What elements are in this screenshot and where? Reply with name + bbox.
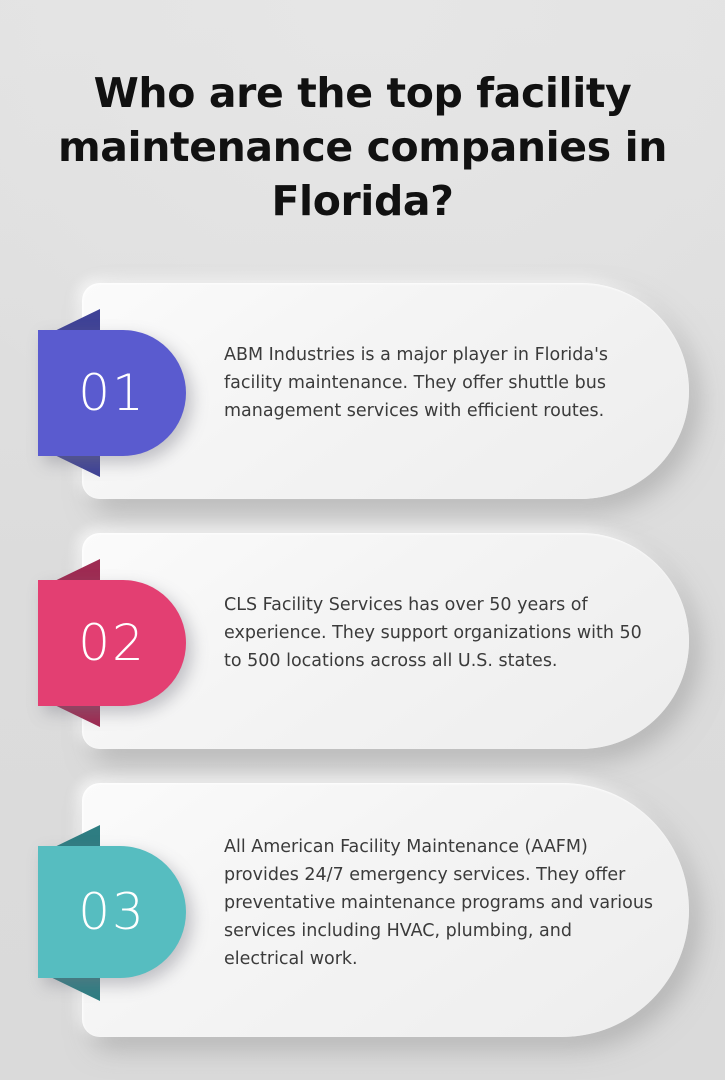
item-description: All American Facility Maintenance (AAFM)… <box>224 833 655 973</box>
item-description: ABM Industries is a major player in Flor… <box>224 341 655 425</box>
page-title: Who are the top facility maintenance com… <box>56 66 669 228</box>
list-item: 03 All American Facility Maintenance (AA… <box>0 783 725 1037</box>
list-item: 01 ABM Industries is a major player in F… <box>0 283 725 499</box>
item-number-label: 01 <box>78 368 146 418</box>
item-number-label: 03 <box>78 887 146 937</box>
list-item: 02 CLS Facility Services has over 50 yea… <box>0 533 725 749</box>
item-number-badge: 02 <box>38 580 186 706</box>
item-number-label: 02 <box>78 618 146 668</box>
infographic-page: Who are the top facility maintenance com… <box>0 0 725 1080</box>
item-description: CLS Facility Services has over 50 years … <box>224 591 655 675</box>
item-number-badge: 03 <box>38 846 186 978</box>
item-number-badge: 01 <box>38 330 186 456</box>
